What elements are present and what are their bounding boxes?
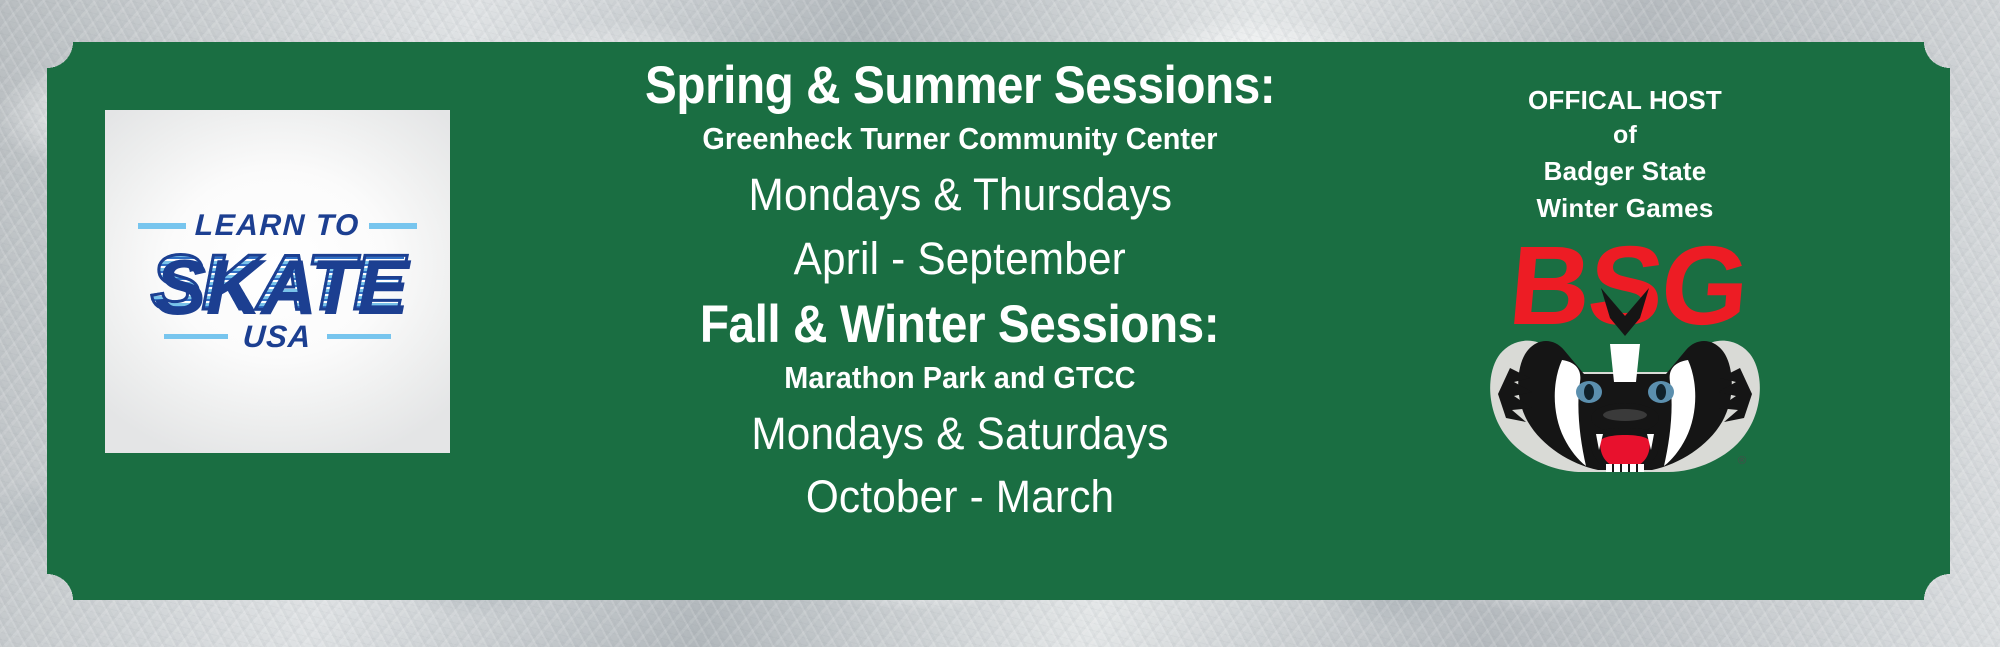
dash-left-icon (138, 223, 186, 229)
trademark-icon: ® (1738, 455, 1746, 467)
lts-skate-wrap: SKATE (151, 245, 405, 319)
host-line-1: OFFICAL HOST (1528, 82, 1722, 118)
fall-winter-days: Mondays & Saturdays (751, 402, 1168, 466)
badger-state-winter-games-logo: BSG (1470, 232, 1780, 472)
host-line-3: Badger State (1544, 153, 1707, 189)
spring-summer-months: April - September (794, 227, 1126, 291)
dash-left-lower-icon (164, 334, 228, 339)
fall-winter-months: October - March (806, 465, 1114, 529)
lts-learn-to-row: LEARN TO (105, 211, 450, 241)
lts-usa-text: USA (236, 321, 319, 352)
spring-summer-days: Mondays & Thursdays (748, 163, 1172, 227)
lts-learn-to-text: LEARN TO (195, 211, 361, 241)
banner-root: LEARN TO SKATE USA Spring & Summer Sessi… (0, 0, 2000, 647)
host-line-2: of (1613, 118, 1637, 153)
host-block: OFFICAL HOST of Badger State Winter Game… (1430, 42, 1820, 600)
spring-summer-heading: Spring & Summer Sessions: (645, 56, 1275, 116)
learn-to-skate-usa-logo: LEARN TO SKATE USA (105, 110, 450, 453)
lts-skate-text: SKATE (151, 238, 405, 326)
dash-right-lower-icon (327, 334, 391, 339)
spring-summer-venue: Greenheck Turner Community Center (702, 116, 1217, 163)
lts-usa-row: USA (105, 321, 450, 352)
fall-winter-heading: Fall & Winter Sessions: (700, 295, 1219, 355)
dash-right-icon (369, 223, 417, 229)
fall-winter-venue: Marathon Park and GTCC (784, 355, 1135, 402)
sessions-text-block: Spring & Summer Sessions: Greenheck Turn… (500, 42, 1420, 600)
host-line-4: Winter Games (1537, 190, 1714, 226)
